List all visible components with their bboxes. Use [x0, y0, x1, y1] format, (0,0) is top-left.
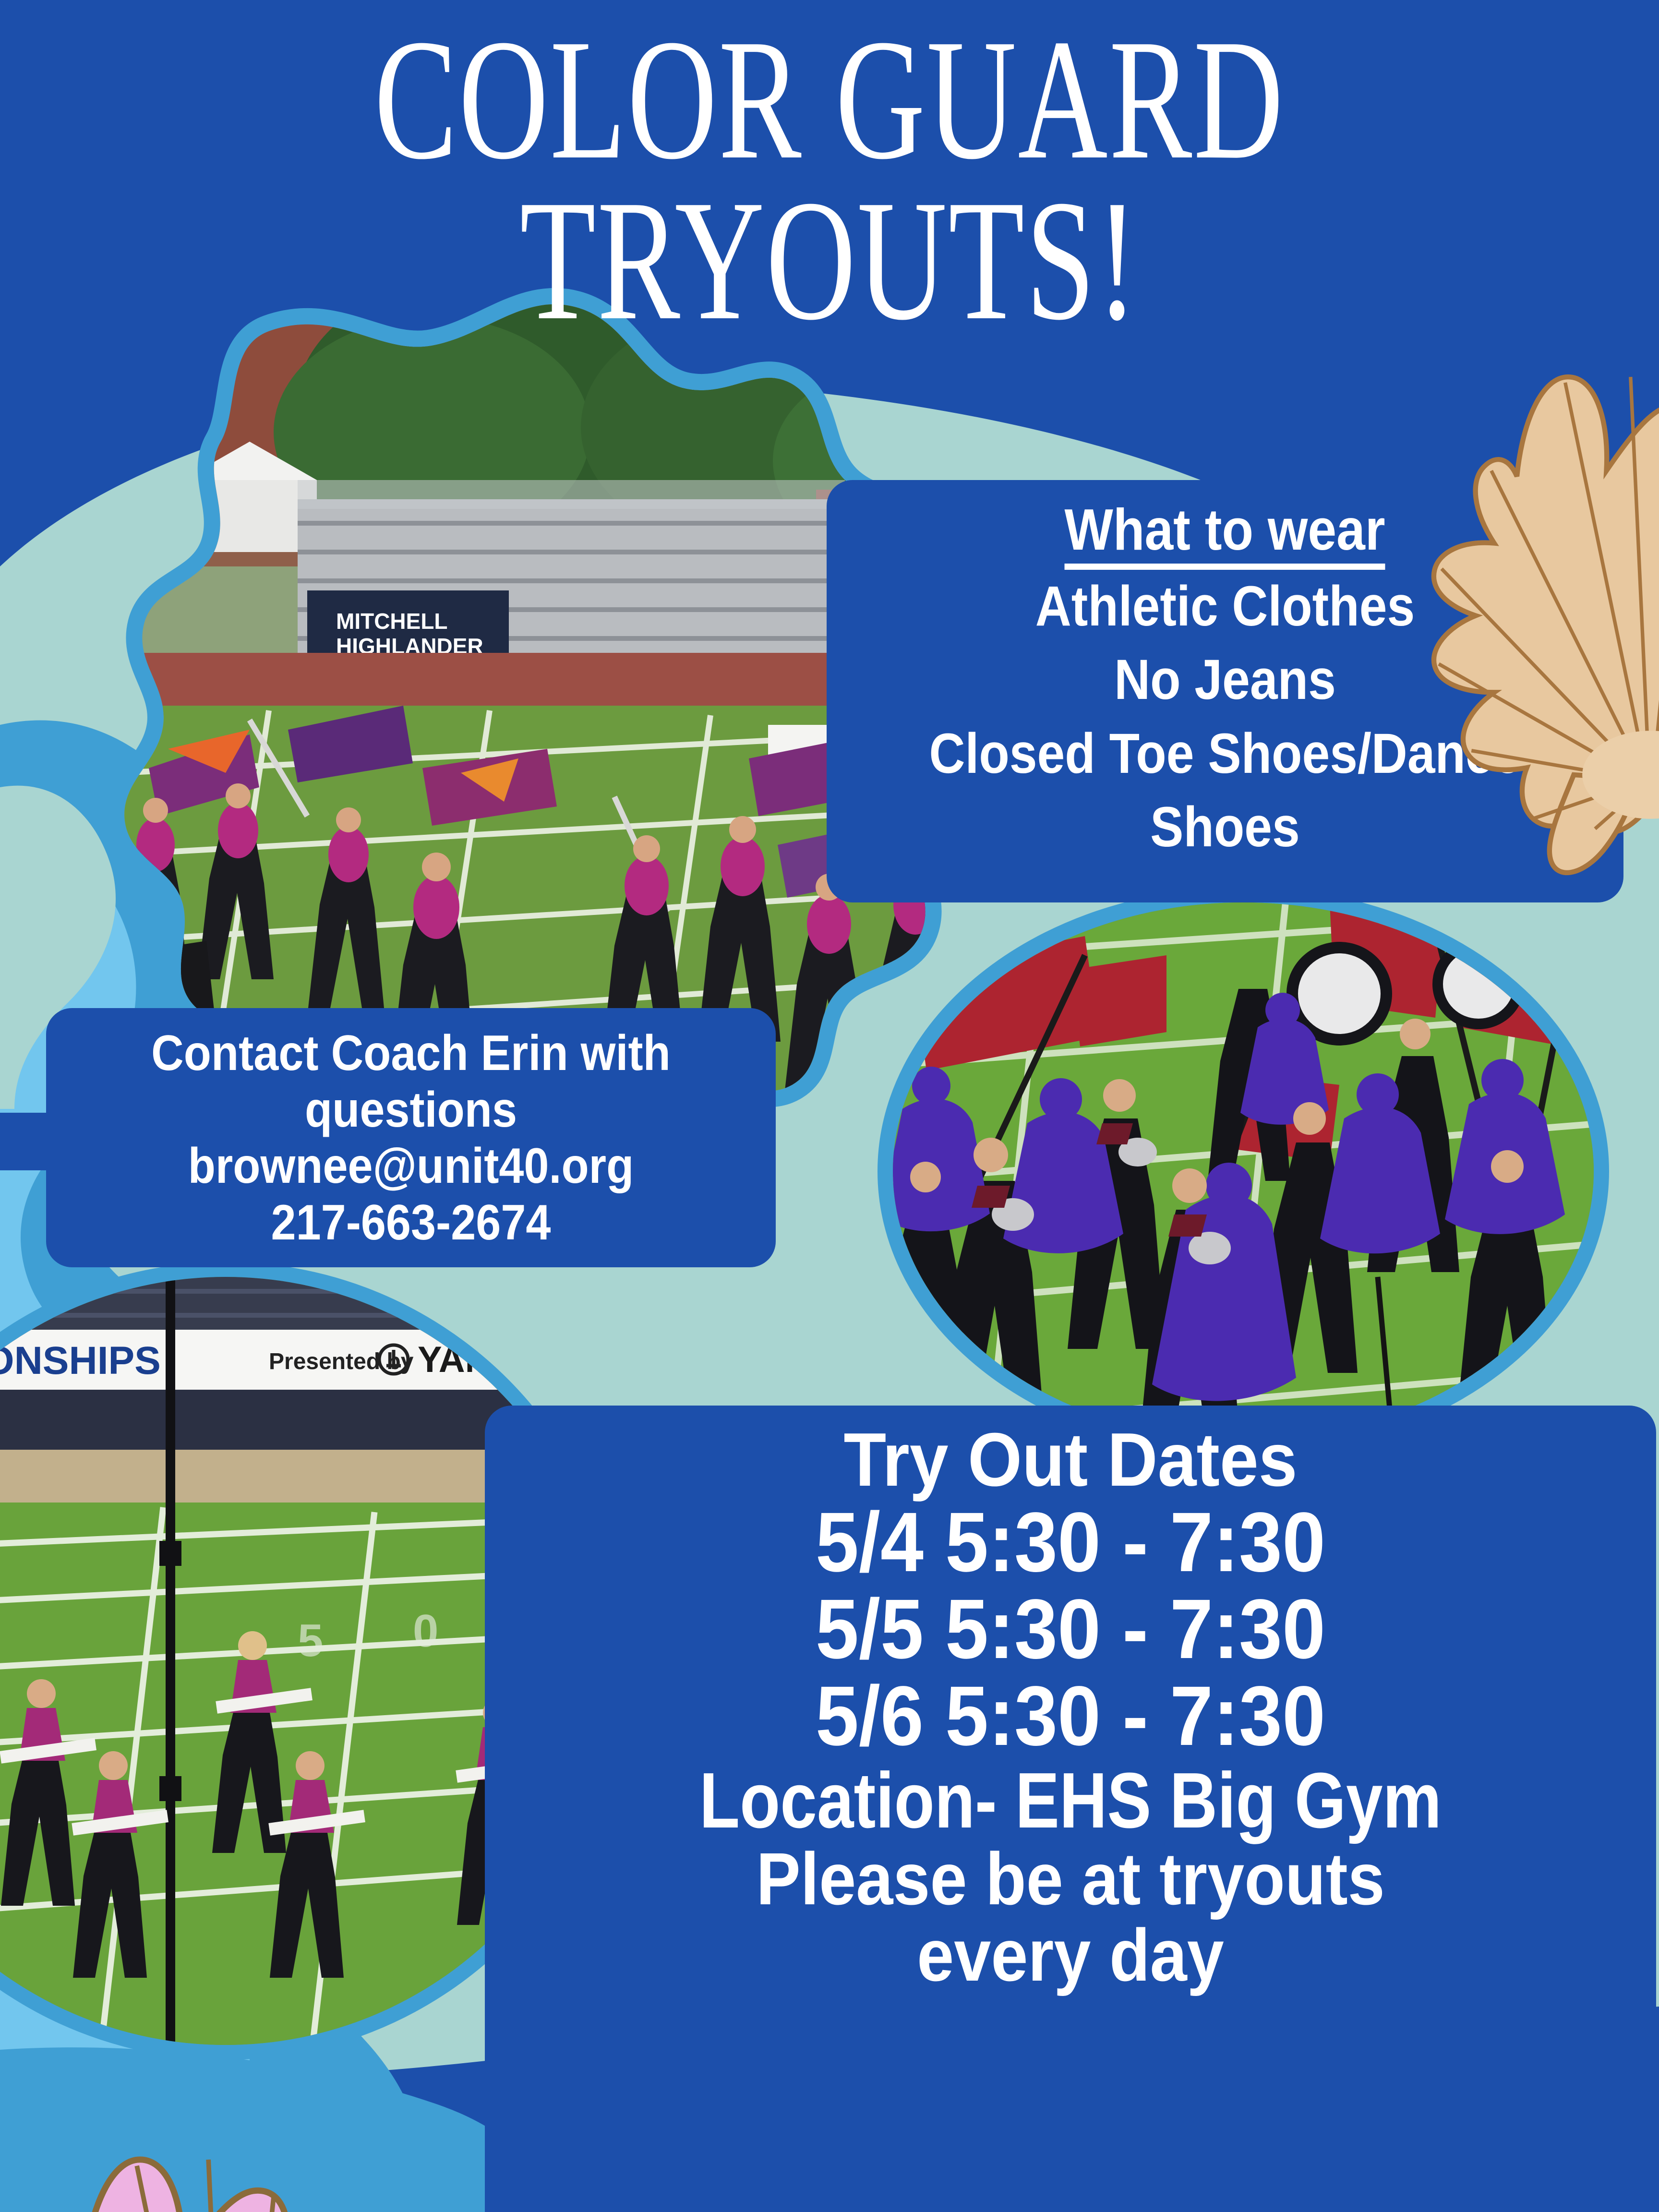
poster-canvas: MITCHELL HIGHLANDER AFFILIATE — [0, 0, 1659, 2212]
shell-pink-icon — [0, 0, 1659, 2212]
